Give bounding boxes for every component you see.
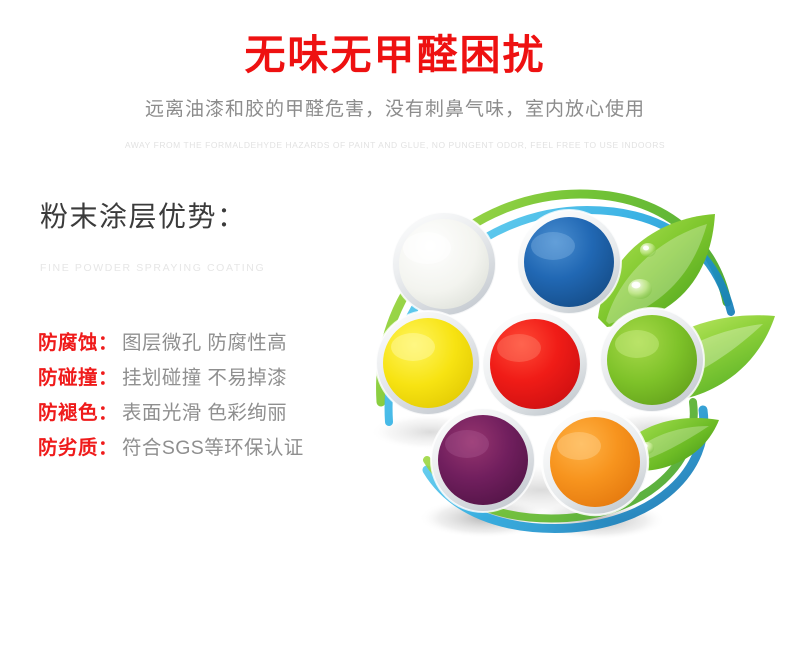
white-powder-jar bbox=[392, 212, 496, 316]
purple-powder-jar bbox=[431, 408, 535, 512]
english-tagline: AWAY FROM THE FORMALDEHYDE HAZARDS OF PA… bbox=[0, 139, 790, 151]
page-subtitle: 远离油漆和胶的甲醛危害，没有刺鼻气味，室内放心使用 bbox=[0, 96, 790, 124]
green-powder-jar bbox=[600, 308, 704, 412]
list-item: 防腐蚀： 图层微孔 防腐性高 bbox=[38, 326, 378, 361]
advantages-heading-block: 粉末涂层优势： FINE POWDER SPRAYING COATING bbox=[40, 198, 370, 276]
feature-value: 表面光滑 色彩绚丽 bbox=[122, 396, 287, 431]
feature-list: 防腐蚀： 图层微孔 防腐性高 防碰撞： 挂划碰撞 不易掉漆 防褪色： 表面光滑 … bbox=[38, 326, 378, 466]
red-powder-jar bbox=[482, 311, 588, 417]
section-subtitle: FINE POWDER SPRAYING COATING bbox=[40, 260, 370, 276]
section-title: 粉末涂层优势： bbox=[40, 198, 370, 236]
list-item: 防劣质： 符合SGS等环保认证 bbox=[38, 431, 378, 466]
promo-page: 无味无甲醛困扰 远离油漆和胶的甲醛危害，没有刺鼻气味，室内放心使用 AWAY F… bbox=[0, 0, 790, 664]
feature-key: 防碰撞： bbox=[38, 361, 118, 396]
orange-powder-jar bbox=[542, 409, 648, 515]
feature-value: 挂划碰撞 不易掉漆 bbox=[122, 361, 287, 396]
feature-key: 防腐蚀： bbox=[38, 326, 118, 361]
feature-key: 防劣质： bbox=[38, 431, 118, 466]
blue-powder-jar bbox=[517, 210, 621, 314]
feature-value: 图层微孔 防腐性高 bbox=[122, 326, 287, 361]
powder-jars-illustration bbox=[355, 170, 790, 570]
yellow-powder-jar bbox=[376, 311, 480, 415]
page-title: 无味无甲醛困扰 bbox=[0, 30, 790, 80]
list-item: 防碰撞： 挂划碰撞 不易掉漆 bbox=[38, 361, 378, 396]
feature-key: 防褪色： bbox=[38, 396, 118, 431]
list-item: 防褪色： 表面光滑 色彩绚丽 bbox=[38, 396, 378, 431]
feature-value: 符合SGS等环保认证 bbox=[122, 431, 304, 466]
